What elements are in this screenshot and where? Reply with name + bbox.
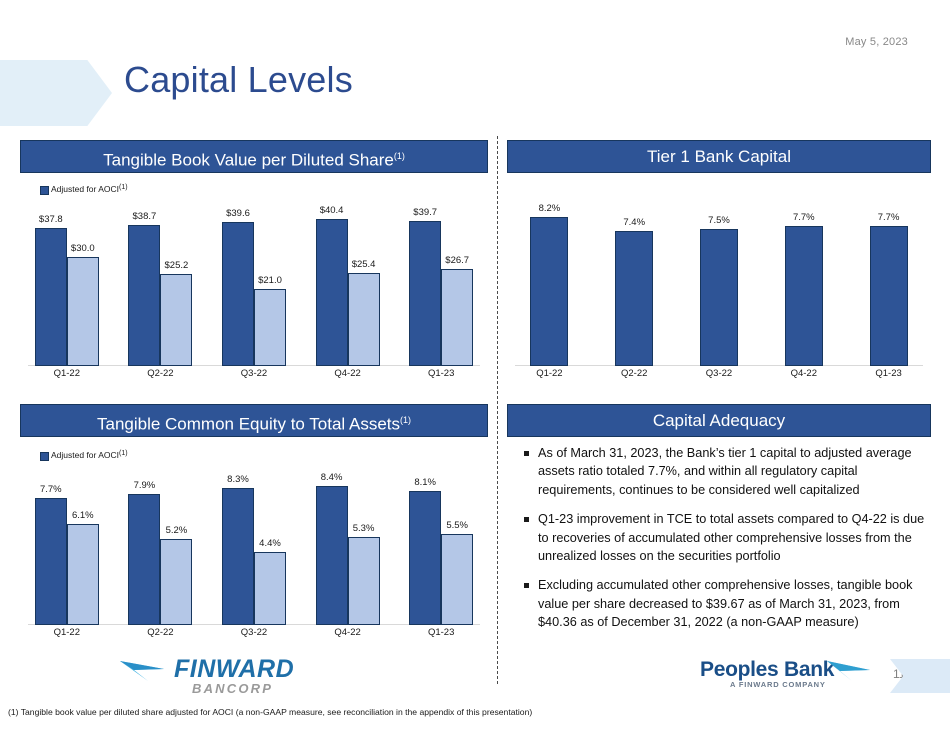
chart-bar-wrapper: 8.1% bbox=[409, 468, 441, 625]
chart-bar-groups: $37.8$30.0$38.7$25.2$39.6$21.0$40.4$25.4… bbox=[20, 202, 488, 366]
chart-bar bbox=[615, 231, 653, 366]
chart-bar bbox=[530, 217, 568, 366]
chart-bar bbox=[67, 257, 99, 366]
bullet-item: As of March 31, 2023, the Bank’s tier 1 … bbox=[515, 444, 925, 499]
chart-x-tick-labels: Q1-22Q2-22Q3-22Q4-22Q1-23 bbox=[507, 368, 931, 388]
legend-swatch-icon bbox=[40, 452, 49, 461]
chart-bar-wrapper: 5.2% bbox=[160, 468, 192, 625]
chart-bar-wrapper: 7.4% bbox=[615, 202, 653, 366]
chart-bar-value-label: 8.1% bbox=[414, 477, 436, 488]
chart-tbv: $37.8$30.0$38.7$25.2$39.6$21.0$40.4$25.4… bbox=[20, 202, 488, 390]
chart-bar-value-label: $40.4 bbox=[320, 205, 344, 216]
chart-bar-group: 8.4%5.3% bbox=[316, 468, 380, 625]
chart-bar-value-label: $26.7 bbox=[445, 255, 469, 266]
chart-x-tick: Q2-22 bbox=[128, 627, 192, 638]
chart-bar bbox=[254, 552, 286, 625]
chart-bar bbox=[222, 222, 254, 366]
peoples-arrow-icon bbox=[826, 659, 872, 683]
legend-tbv: Adjusted for AOCI(1) bbox=[40, 184, 128, 195]
chart-bar-wrapper: 6.1% bbox=[67, 468, 99, 625]
legend-footnote-marker: (1) bbox=[119, 184, 128, 191]
chart-bar-wrapper: $26.7 bbox=[441, 202, 473, 366]
bullet-square-icon bbox=[524, 517, 529, 522]
chart-bar-wrapper: 4.4% bbox=[254, 468, 286, 625]
chart-bar-wrapper: $25.4 bbox=[348, 202, 380, 366]
chart-x-tick: Q4-22 bbox=[785, 368, 823, 379]
bullet-item: Excluding accumulated other comprehensiv… bbox=[515, 576, 925, 631]
chart-bar-wrapper: 5.5% bbox=[441, 468, 473, 625]
chart-bar-value-label: 7.7% bbox=[878, 212, 900, 223]
chart-bar-value-label: $30.0 bbox=[71, 243, 95, 254]
panel-title-tce: Tangible Common Equity to Total Assets(1… bbox=[20, 404, 488, 437]
chart-bar-value-label: $21.0 bbox=[258, 275, 282, 286]
chart-bar bbox=[441, 269, 473, 366]
chart-bar-group: 7.5% bbox=[700, 202, 738, 366]
chart-bar bbox=[316, 219, 348, 366]
panel-title-tbv-text: Tangible Book Value per Diluted Share bbox=[103, 151, 394, 170]
chart-bar-value-label: $38.7 bbox=[133, 211, 157, 222]
chart-bar-wrapper: 7.7% bbox=[785, 202, 823, 366]
chart-bar-group: 7.4% bbox=[615, 202, 653, 366]
chart-bar bbox=[128, 494, 160, 625]
chart-bar-value-label: 8.3% bbox=[227, 474, 249, 485]
panel-title-tce-footnote-marker: (1) bbox=[400, 415, 411, 425]
chart-bar-group: $39.7$26.7 bbox=[409, 202, 473, 366]
chart-bar bbox=[785, 226, 823, 366]
chart-bar-group: 8.3%4.4% bbox=[222, 468, 286, 625]
chart-bar-value-label: 7.7% bbox=[40, 484, 62, 495]
capital-adequacy-bullet-list: As of March 31, 2023, the Bank’s tier 1 … bbox=[515, 444, 925, 643]
chart-bar-wrapper: $21.0 bbox=[254, 202, 286, 366]
chart-bar-value-label: 6.1% bbox=[72, 510, 94, 521]
chart-bar-value-label: 5.5% bbox=[446, 520, 468, 531]
chart-bar-group: 7.9%5.2% bbox=[128, 468, 192, 625]
chart-bar-wrapper: $38.7 bbox=[128, 202, 160, 366]
vertical-divider bbox=[497, 136, 498, 684]
chart-bar-wrapper: 7.7% bbox=[35, 468, 67, 625]
chart-x-tick: Q1-22 bbox=[35, 368, 99, 379]
slide-canvas: May 5, 2023 Capital Levels Tangible Book… bbox=[0, 0, 950, 734]
chart-x-tick: Q3-22 bbox=[222, 627, 286, 638]
chart-x-tick: Q3-22 bbox=[700, 368, 738, 379]
chart-bar-value-label: 5.3% bbox=[353, 523, 375, 534]
chart-bar-group: 7.7% bbox=[870, 202, 908, 366]
chart-bar-group: 8.2% bbox=[530, 202, 568, 366]
chart-bar-wrapper: 7.7% bbox=[870, 202, 908, 366]
chart-x-tick: Q2-22 bbox=[615, 368, 653, 379]
chart-bar bbox=[348, 537, 380, 625]
finward-wordmark: FINWARD bbox=[174, 655, 294, 684]
panel-tangible-common-equity: Tangible Common Equity to Total Assets(1… bbox=[20, 404, 488, 649]
bullet-text: Q1-23 improvement in TCE to total assets… bbox=[538, 510, 925, 565]
chart-bar bbox=[160, 274, 192, 366]
legend-swatch-icon bbox=[40, 186, 49, 195]
panel-capital-adequacy: Capital Adequacy As of March 31, 2023, t… bbox=[507, 404, 931, 649]
chart-bar bbox=[35, 228, 67, 366]
chart-bar-wrapper: $39.6 bbox=[222, 202, 254, 366]
chart-bar-wrapper: 7.5% bbox=[700, 202, 738, 366]
chart-x-tick: Q1-22 bbox=[35, 627, 99, 638]
chevron-left-decoration bbox=[0, 60, 112, 126]
chart-bar-group: 8.1%5.5% bbox=[409, 468, 473, 625]
chart-bar-groups: 8.2%7.4%7.5%7.7%7.7% bbox=[507, 202, 931, 366]
peoples-bank-wordmark: Peoples Bank bbox=[700, 658, 834, 682]
chart-bar-wrapper: $30.0 bbox=[67, 202, 99, 366]
panel-title-tbv-footnote-marker: (1) bbox=[394, 151, 405, 161]
chart-x-tick: Q4-22 bbox=[316, 627, 380, 638]
chart-bar-group: $37.8$30.0 bbox=[35, 202, 99, 366]
chart-bar bbox=[128, 225, 160, 366]
chart-bar bbox=[67, 524, 99, 625]
chart-bar-wrapper: 8.4% bbox=[316, 468, 348, 625]
chart-bar-value-label: 4.4% bbox=[259, 538, 281, 549]
chart-bar-groups: 7.7%6.1%7.9%5.2%8.3%4.4%8.4%5.3%8.1%5.5% bbox=[20, 468, 488, 625]
chart-bar-wrapper: 7.9% bbox=[128, 468, 160, 625]
chart-bar-wrapper: $25.2 bbox=[160, 202, 192, 366]
chart-bar bbox=[316, 486, 348, 625]
chart-bar-group: $38.7$25.2 bbox=[128, 202, 192, 366]
bullet-square-icon bbox=[524, 451, 529, 456]
chart-bar-wrapper: 5.3% bbox=[348, 468, 380, 625]
chart-bar-value-label: $39.6 bbox=[226, 208, 250, 219]
panel-title-tier1: Tier 1 Bank Capital bbox=[507, 140, 931, 173]
panel-tangible-book-value: Tangible Book Value per Diluted Share(1)… bbox=[20, 140, 488, 390]
panel-tier-1-bank-capital: Tier 1 Bank Capital 8.2%7.4%7.5%7.7%7.7%… bbox=[507, 140, 931, 390]
panel-title-tbv: Tangible Book Value per Diluted Share(1) bbox=[20, 140, 488, 173]
chart-bar-value-label: $37.8 bbox=[39, 214, 63, 225]
chart-bar-value-label: 5.2% bbox=[166, 525, 188, 536]
chart-bar-value-label: 7.7% bbox=[793, 212, 815, 223]
peoples-bank-logo: Peoples Bank A FINWARD COMPANY bbox=[700, 658, 855, 694]
finward-arrow-icon bbox=[118, 657, 170, 683]
bullet-item: Q1-23 improvement in TCE to total assets… bbox=[515, 510, 925, 565]
chart-bar-value-label: 7.4% bbox=[623, 217, 645, 228]
chart-bar-value-label: 7.5% bbox=[708, 215, 730, 226]
chart-bar bbox=[35, 498, 67, 625]
chart-bar-group: $39.6$21.0 bbox=[222, 202, 286, 366]
chart-bar-value-label: $25.4 bbox=[352, 259, 376, 270]
chart-bar-group: 7.7% bbox=[785, 202, 823, 366]
chart-bar bbox=[441, 534, 473, 625]
chart-bar-wrapper: $39.7 bbox=[409, 202, 441, 366]
chart-bar-group: $40.4$25.4 bbox=[316, 202, 380, 366]
chart-tier1: 8.2%7.4%7.5%7.7%7.7% Q1-22Q2-22Q3-22Q4-2… bbox=[507, 202, 931, 390]
finward-bancorp-logo: FINWARD BANCORP bbox=[118, 655, 288, 697]
chart-bar bbox=[254, 289, 286, 366]
chart-bar-wrapper: 8.2% bbox=[530, 202, 568, 366]
legend-label-tce: Adjusted for AOCI bbox=[51, 450, 119, 460]
chart-bar-wrapper: 8.3% bbox=[222, 468, 254, 625]
chart-bar-value-label: 8.4% bbox=[321, 472, 343, 483]
chart-tce: 7.7%6.1%7.9%5.2%8.3%4.4%8.4%5.3%8.1%5.5%… bbox=[20, 468, 488, 649]
chart-bar bbox=[160, 539, 192, 625]
chart-x-tick: Q4-22 bbox=[316, 368, 380, 379]
chart-bar bbox=[870, 226, 908, 366]
chart-bar-group: 7.7%6.1% bbox=[35, 468, 99, 625]
chart-x-tick: Q1-23 bbox=[409, 627, 473, 638]
chart-bar bbox=[409, 221, 441, 366]
chart-bar bbox=[348, 273, 380, 366]
chart-bar bbox=[409, 491, 441, 625]
slide-date: May 5, 2023 bbox=[845, 36, 908, 48]
bullet-square-icon bbox=[524, 583, 529, 588]
chart-bar bbox=[222, 488, 254, 625]
chart-bar-value-label: 7.9% bbox=[134, 480, 156, 491]
legend-tce: Adjusted for AOCI(1) bbox=[40, 450, 128, 461]
chart-x-tick: Q1-23 bbox=[870, 368, 908, 379]
chart-x-tick: Q1-22 bbox=[530, 368, 568, 379]
legend-footnote-marker: (1) bbox=[119, 450, 128, 457]
legend-label-tbv: Adjusted for AOCI bbox=[51, 184, 119, 194]
peoples-bank-subtitle: A FINWARD COMPANY bbox=[730, 680, 826, 689]
chart-x-tick: Q2-22 bbox=[128, 368, 192, 379]
page-title: Capital Levels bbox=[124, 62, 353, 98]
chart-x-tick: Q1-23 bbox=[409, 368, 473, 379]
chart-bar-value-label: 8.2% bbox=[539, 203, 561, 214]
chart-x-tick-labels: Q1-22Q2-22Q3-22Q4-22Q1-23 bbox=[20, 627, 488, 647]
chart-bar bbox=[700, 229, 738, 366]
panel-title-capital-adequacy: Capital Adequacy bbox=[507, 404, 931, 437]
chart-bar-value-label: $25.2 bbox=[165, 260, 189, 271]
chart-x-tick-labels: Q1-22Q2-22Q3-22Q4-22Q1-23 bbox=[20, 368, 488, 388]
chart-x-tick: Q3-22 bbox=[222, 368, 286, 379]
chart-bar-value-label: $39.7 bbox=[413, 207, 437, 218]
slide-footnote: (1) Tangible book value per diluted shar… bbox=[8, 707, 532, 717]
bullet-text: Excluding accumulated other comprehensiv… bbox=[538, 576, 925, 631]
chart-bar-wrapper: $37.8 bbox=[35, 202, 67, 366]
finward-subtitle: BANCORP bbox=[192, 681, 273, 696]
panel-title-tce-text: Tangible Common Equity to Total Assets bbox=[97, 415, 400, 434]
bullet-text: As of March 31, 2023, the Bank’s tier 1 … bbox=[538, 444, 925, 499]
chart-bar-wrapper: $40.4 bbox=[316, 202, 348, 366]
